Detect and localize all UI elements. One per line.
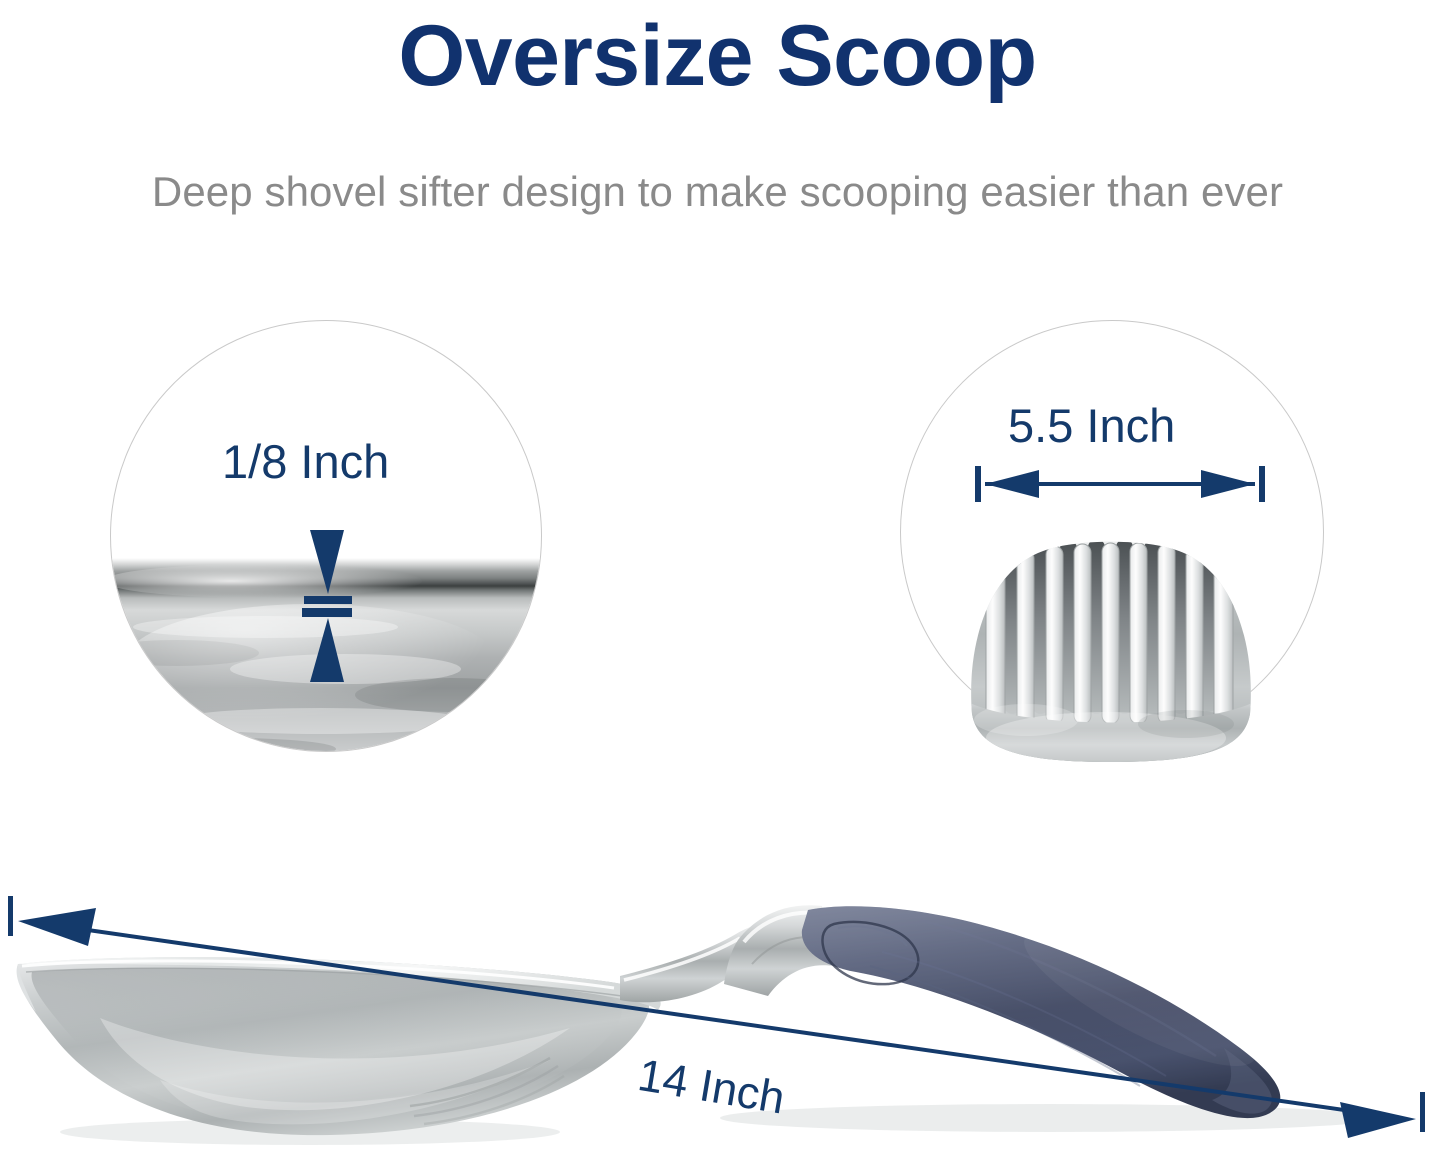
double-headed-arrow-icon <box>975 462 1265 506</box>
diagonal-double-arrow-icon <box>0 860 1435 1171</box>
double-triangle-thickness-icon <box>301 530 353 682</box>
page-subtitle: Deep shovel sifter design to make scoopi… <box>0 166 1435 218</box>
product-infographic: Oversize Scoop Deep shovel sifter design… <box>0 0 1435 1171</box>
scoop-product-photo <box>0 860 1435 1171</box>
sifter-head-front-view <box>956 524 1266 764</box>
page-title: Oversize Scoop <box>0 6 1435 106</box>
width-label: 5.5 Inch <box>1008 398 1175 454</box>
thickness-label: 1/8 Inch <box>222 434 389 490</box>
